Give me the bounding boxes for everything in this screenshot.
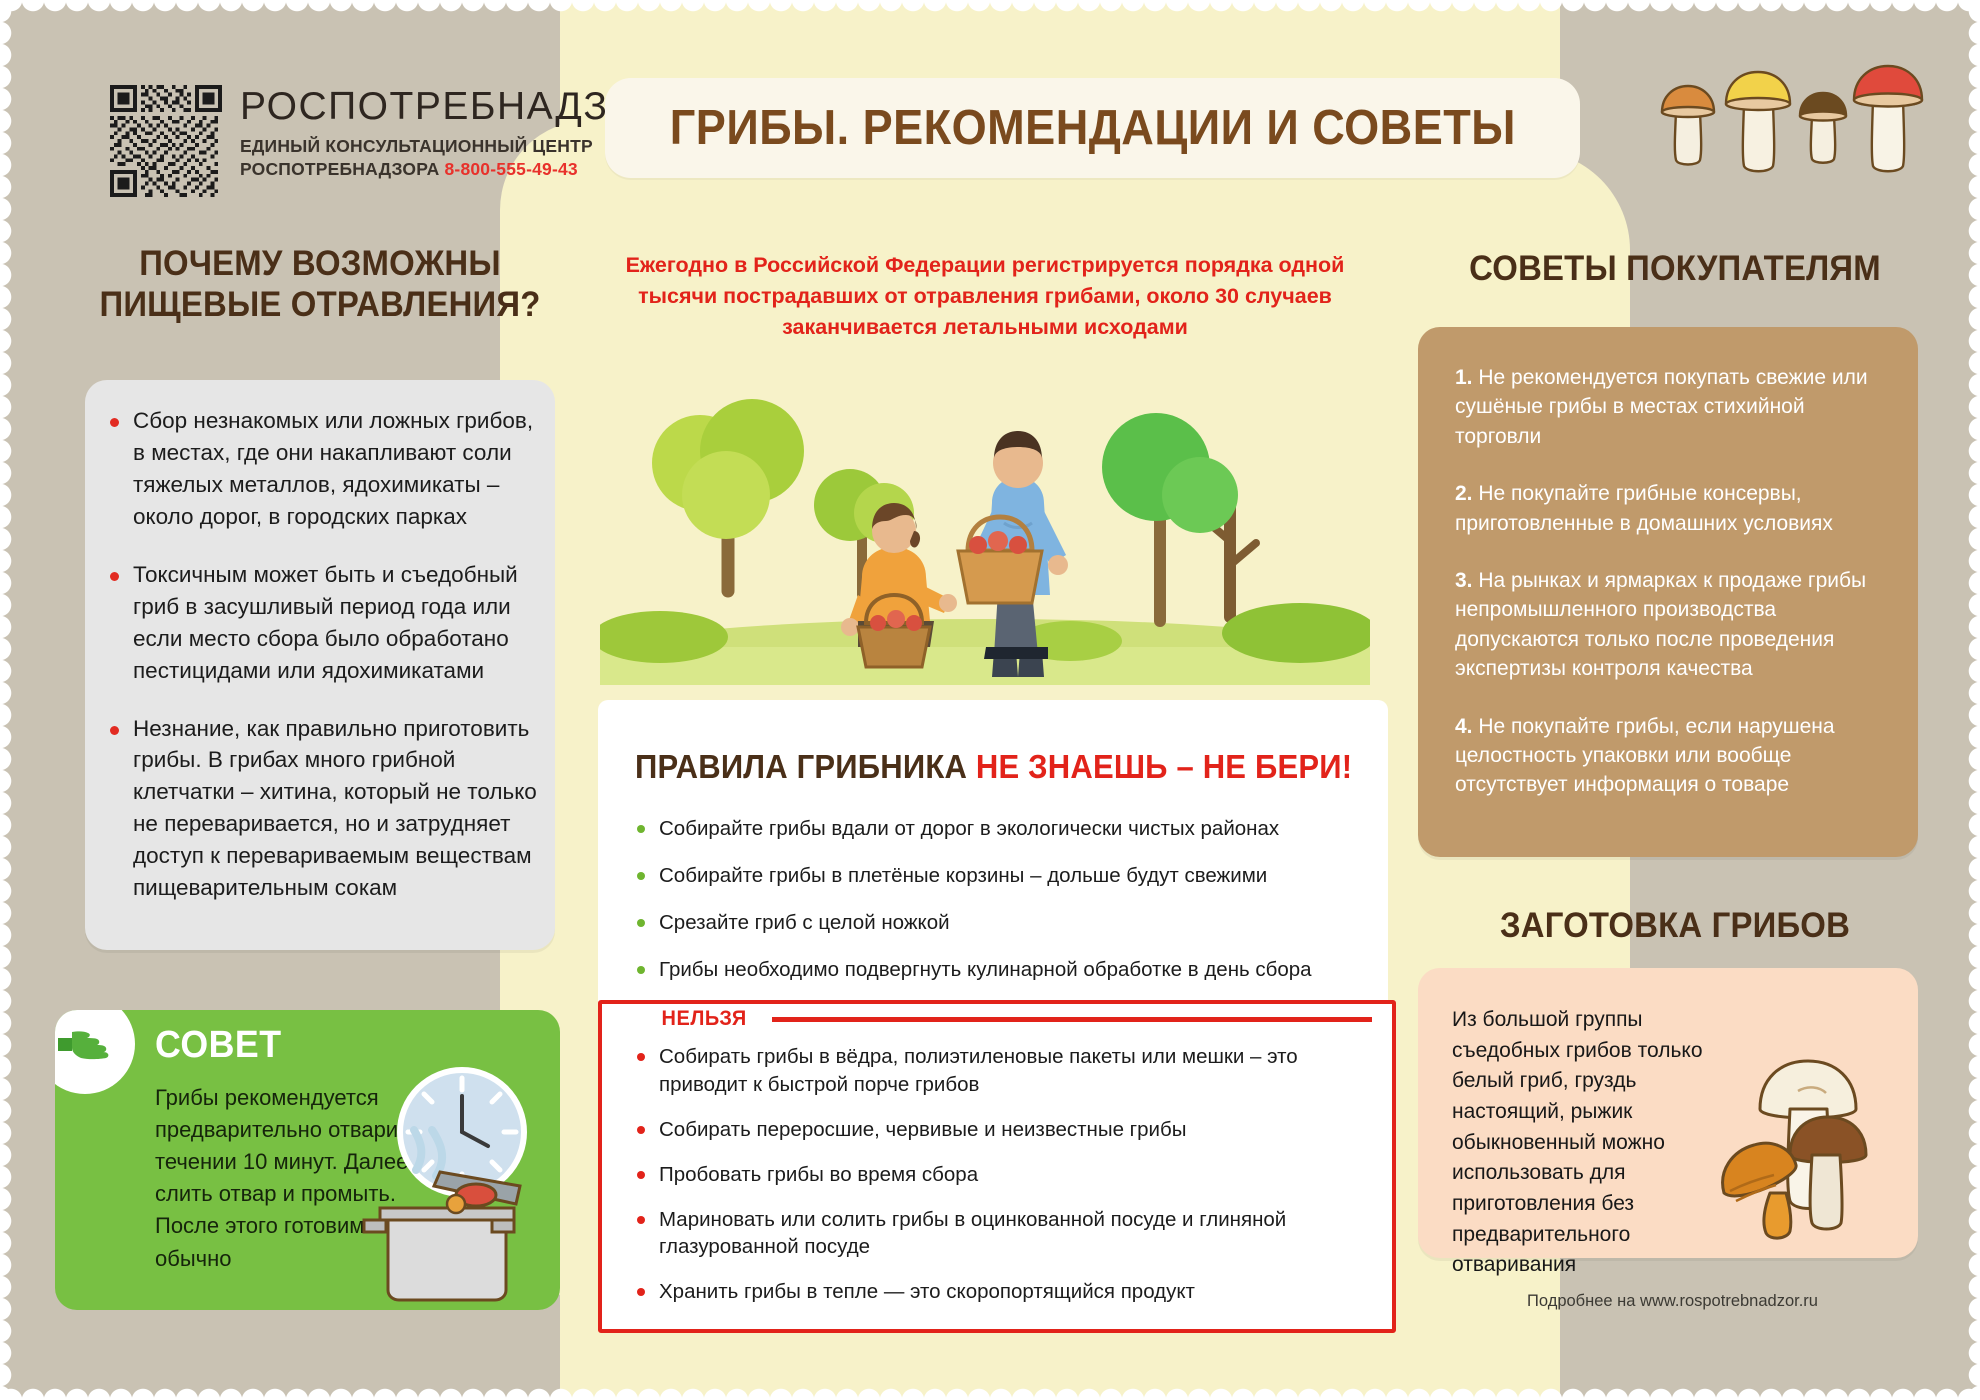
list-item: 3. На рынках и ярмарках к продаже грибы … — [1455, 566, 1885, 684]
bullet-dot-icon — [637, 825, 645, 833]
left-section-heading: ПОЧЕМУ ВОЗМОЖНЫ ПИЩЕВЫЕ ОТРАВЛЕНИЯ? — [94, 243, 545, 326]
forbidden-text: Пробовать грибы во время сбора — [659, 1161, 978, 1189]
rules-title: ПРАВИЛА ГРИБНИКА НЕ ЗНАЕШЬ – НЕ БЕРИ! — [635, 748, 1352, 786]
mushroom-cluster-icon — [1642, 50, 1952, 180]
hotline-phone[interactable]: 8-800-555-49-43 — [444, 159, 577, 179]
rule-text: Собирайте грибы в плетёные корзины – дол… — [659, 862, 1267, 890]
cause-text: Сбор незнакомых или ложных грибов, в мес… — [133, 405, 540, 533]
logo-subtitle: ЕДИНЫЙ КОНСУЛЬТАЦИОННЫЙ ЦЕНТР РОСПОТРЕБН… — [240, 135, 667, 182]
forbidden-list: Собирать грибы в вёдра, полиэтиленовые п… — [637, 1043, 1367, 1323]
forbidden-label: НЕЛЬЗЯ — [652, 1007, 756, 1031]
mushroom-pickers-illustration — [600, 355, 1370, 685]
logo-subtitle-line2: РОСПОТРЕБНАДЗОРА 8-800-555-49-43 — [240, 158, 667, 181]
list-item: Мариновать или солить грибы в оцинкованн… — [637, 1206, 1367, 1262]
forbidden-text: Собирать грибы в вёдра, полиэтиленовые п… — [659, 1043, 1367, 1099]
buyer-item-number: 1. — [1455, 366, 1473, 389]
rule-text: Срезайте гриб с целой ножкой — [659, 909, 950, 937]
pointing-hand-icon — [56, 1022, 114, 1066]
cause-text: Токсичным может быть и съедобный гриб в … — [133, 559, 540, 687]
bullet-dot-icon — [637, 1288, 645, 1296]
forbidden-rule-line — [772, 1017, 1372, 1022]
buyer-item-number: 3. — [1455, 569, 1473, 592]
rule-text: Собирайте грибы вдали от дорог в экологи… — [659, 815, 1279, 843]
cooking-pot-with-clock-icon — [344, 1060, 554, 1310]
bullet-dot-icon — [637, 966, 645, 974]
poster-root: РОСПОТРЕБНАДЗОР ЕДИНЫЙ КОНСУЛЬТАЦИОННЫЙ … — [0, 0, 1980, 1400]
tip-card: СОВЕТ Грибы рекомендуется предварительно… — [55, 1010, 560, 1310]
buyer-item-text: Не рекомендуется покупать свежие или суш… — [1455, 366, 1868, 448]
bullet-dot-icon — [110, 572, 119, 581]
forbidden-text: Собирать переросшие, червивые и неизвест… — [659, 1116, 1187, 1144]
tip-title: СОВЕТ — [155, 1024, 281, 1067]
intro-statistics-text: Ежегодно в Российской Федерации регистри… — [615, 250, 1355, 344]
buyer-item-number: 2. — [1455, 482, 1473, 505]
bullet-dot-icon — [637, 872, 645, 880]
list-item: Собирайте грибы в плетёные корзины – дол… — [637, 862, 1367, 890]
page-title: ГРИБЫ. РЕКОМЕНДАЦИИ И СОВЕТЫ — [669, 100, 1515, 156]
logo-subtitle-line1: ЕДИНЫЙ КОНСУЛЬТАЦИОННЫЙ ЦЕНТР — [240, 135, 667, 158]
forbidden-header: НЕЛЬЗЯ — [652, 1007, 1372, 1031]
buyer-item-text: Не покупайте грибные консервы, приготовл… — [1455, 482, 1833, 534]
tip-badge — [55, 1010, 135, 1094]
list-item: Собирать переросшие, червивые и неизвест… — [637, 1116, 1367, 1144]
list-item: Сбор незнакомых или ложных грибов, в мес… — [110, 405, 540, 533]
list-item: Незнание, как правильно приготовить гриб… — [110, 713, 540, 905]
list-item: 4. Не покупайте грибы, если нарушена цел… — [1455, 712, 1885, 800]
logo-text-block: РОСПОТРЕБНАДЗОР ЕДИНЫЙ КОНСУЛЬТАЦИОННЫЙ … — [240, 85, 667, 182]
qr-code-icon[interactable] — [110, 85, 222, 197]
scallop-edge-left — [0, 0, 15, 1400]
scallop-edge-right — [1965, 0, 1980, 1400]
rule-text: Грибы необходимо подвергнуть кулинарной … — [659, 956, 1312, 984]
causes-list: Сбор незнакомых или ложных грибов, в мес… — [110, 405, 540, 930]
buyer-item-number: 4. — [1455, 715, 1473, 738]
list-item: Пробовать грибы во время сбора — [637, 1161, 1367, 1189]
list-item: Собирайте грибы вдали от дорог в экологи… — [637, 815, 1367, 843]
harvest-section-heading: ЗАГОТОВКА ГРИБОВ — [1435, 905, 1914, 946]
buyers-advice-list: 1. Не рекомендуется покупать свежие или … — [1455, 363, 1885, 828]
list-item: Хранить грибы в тепле — это скоропортящи… — [637, 1278, 1367, 1306]
forbidden-text: Хранить грибы в тепле — это скоропортящи… — [659, 1278, 1195, 1306]
list-item: Грибы необходимо подвергнуть кулинарной … — [637, 956, 1367, 984]
list-item: Токсичным может быть и съедобный гриб в … — [110, 559, 540, 687]
bullet-dot-icon — [637, 1216, 645, 1224]
list-item: Собирать грибы в вёдра, полиэтиленовые п… — [637, 1043, 1367, 1099]
rules-title-main: ПРАВИЛА ГРИБНИКА — [635, 748, 967, 785]
title-banner: ГРИБЫ. РЕКОМЕНДАЦИИ И СОВЕТЫ — [605, 78, 1580, 178]
rules-list: Собирайте грибы вдали от дорог в экологи… — [637, 815, 1367, 1003]
bullet-dot-icon — [637, 1126, 645, 1134]
org-name: РОСПОТРЕБНАДЗОР — [240, 87, 667, 126]
footer-link[interactable]: Подробнее на www.rospotrebnadzor.ru — [1420, 1292, 1925, 1311]
buyer-item-text: На рынках и ярмарках к продаже грибы неп… — [1455, 569, 1866, 680]
rules-title-red: НЕ ЗНАЕШЬ – НЕ БЕРИ! — [976, 748, 1352, 785]
list-item: 2. Не покупайте грибные консервы, пригот… — [1455, 479, 1885, 538]
buyer-item-text: Не покупайте грибы, если нарушена целост… — [1455, 715, 1835, 797]
bullet-dot-icon — [110, 726, 119, 735]
rospotrebnadzor-logo: РОСПОТРЕБНАДЗОР ЕДИНЫЙ КОНСУЛЬТАЦИОННЫЙ … — [110, 85, 667, 197]
list-item: Срезайте гриб с целой ножкой — [637, 909, 1367, 937]
cause-text: Незнание, как правильно приготовить гриб… — [133, 713, 540, 905]
buyers-section-heading: СОВЕТЫ ПОКУПАТЕЛЯМ — [1435, 248, 1914, 289]
bullet-dot-icon — [637, 1171, 645, 1179]
bullet-dot-icon — [110, 418, 119, 427]
harvest-text: Из большой группы съедобных грибов тольк… — [1452, 1005, 1727, 1281]
bullet-dot-icon — [637, 919, 645, 927]
logo-subtitle-line2-text: РОСПОТРЕБНАДЗОРА — [240, 159, 439, 179]
forbidden-text: Мариновать или солить грибы в оцинкованн… — [659, 1206, 1367, 1262]
list-item: 1. Не рекомендуется покупать свежие или … — [1455, 363, 1885, 451]
bullet-dot-icon — [637, 1053, 645, 1061]
